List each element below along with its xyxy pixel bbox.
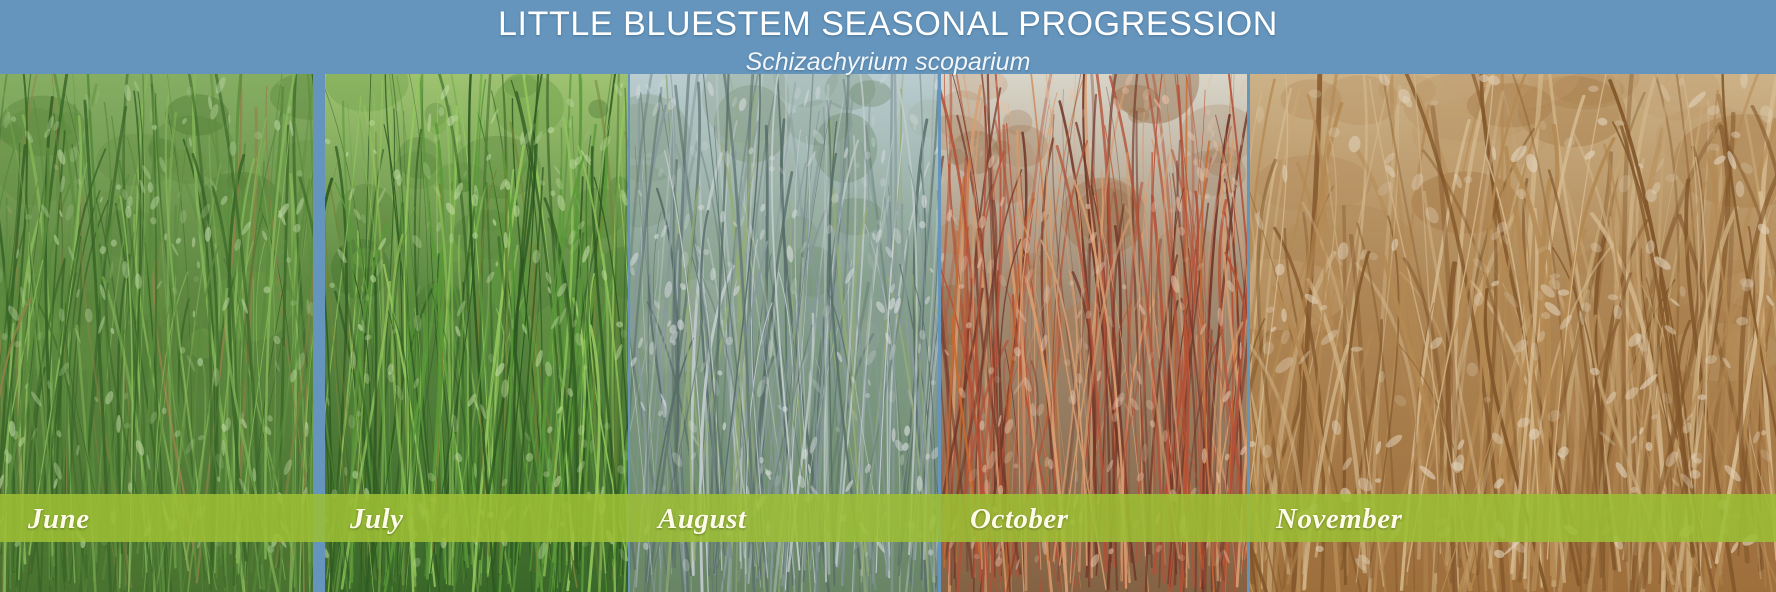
month-label-november: November (1276, 498, 1402, 540)
poster-header: LITTLE BLUESTEM SEASONAL PROGRESSION Sch… (0, 0, 1776, 74)
scientific-name-subtitle: Schizachyrium scoparium (0, 41, 1776, 75)
poster-root: LITTLE BLUESTEM SEASONAL PROGRESSION Sch… (0, 0, 1776, 592)
month-label-october: October (970, 498, 1069, 540)
page-title: LITTLE BLUESTEM SEASONAL PROGRESSION (0, 0, 1776, 41)
month-label-august: August (658, 498, 746, 540)
month-label-june: June (28, 498, 90, 540)
month-label-july: July (350, 498, 404, 540)
seasonal-panel-strip (0, 74, 1776, 592)
